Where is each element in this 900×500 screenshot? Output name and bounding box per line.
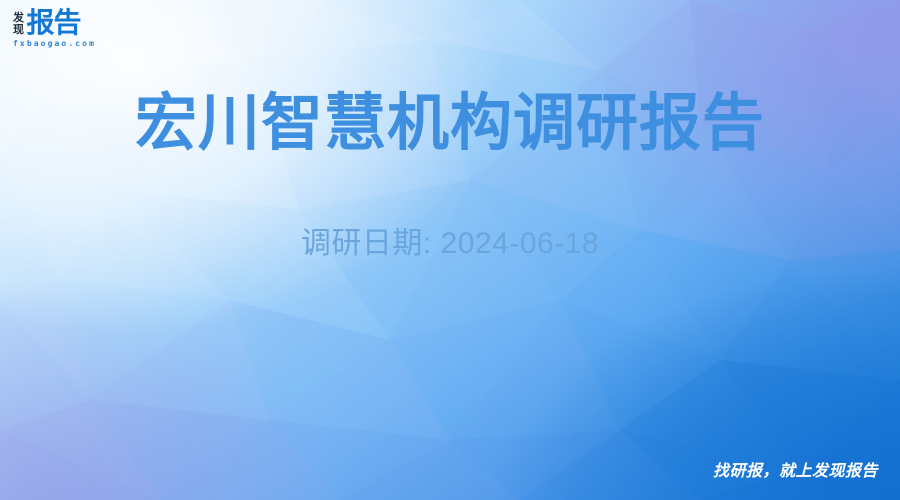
footer-slogan: 找研报，就上发现报告 <box>713 462 878 482</box>
logo-wordmark-row: 发 现 报告 <box>13 7 117 37</box>
logo-wordmark: 报告 <box>27 9 81 37</box>
headline-block: 宏川智慧机构调研报告 调研日期: 2024-06-18 <box>0 84 900 264</box>
report-cover: 发 现 报告 fxbaogao.com 宏川智慧机构调研报告 调研日期: 202… <box>0 0 900 500</box>
survey-date-subtitle: 调研日期: 2024-06-18 <box>0 224 900 264</box>
fxbaogao-logo[interactable]: 发 现 报告 fxbaogao.com <box>13 7 117 49</box>
logo-char-fa: 发 <box>13 12 24 24</box>
logo-url: fxbaogao.com <box>13 39 117 49</box>
logo-stacked-characters: 发 现 <box>13 12 24 37</box>
page-title: 宏川智慧机构调研报告 <box>0 84 900 164</box>
logo-char-xian: 现 <box>13 24 24 36</box>
